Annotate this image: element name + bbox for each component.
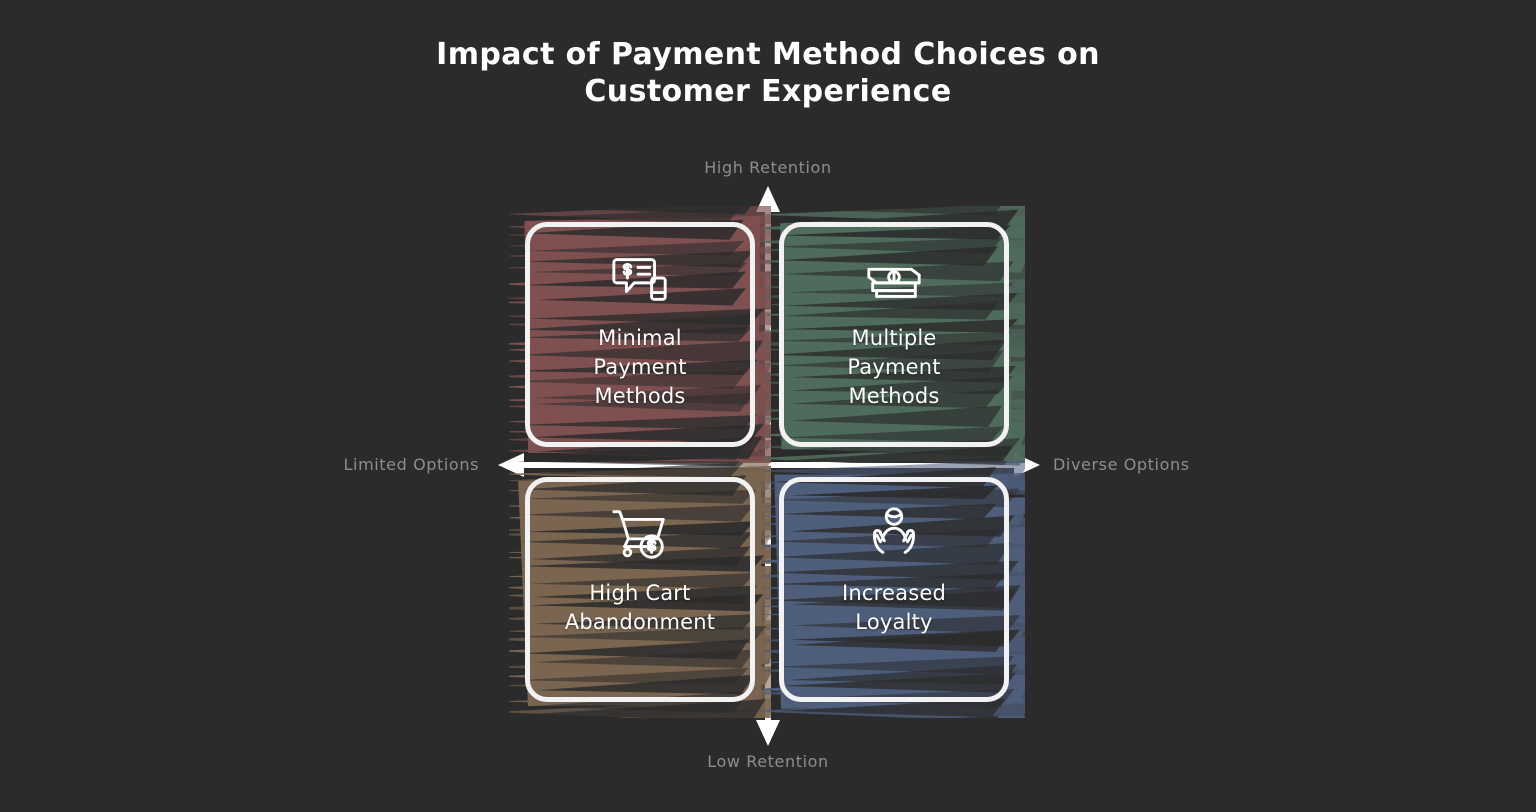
axis-arrow-down-icon [756, 720, 780, 746]
quadrant-card-multiple-payment-methods[interactable]: Multiple Payment Methods [779, 222, 1009, 447]
person-in-hands-care-icon [863, 503, 925, 565]
axis-label-top: High Retention [0, 158, 1536, 177]
quadrant-card-high-cart-abandonment[interactable]: High Cart Abandonment [525, 477, 755, 702]
quadrant-card-increased-loyalty[interactable]: Increased Loyalty [779, 477, 1009, 702]
shopping-cart-dollar-icon [609, 503, 671, 565]
card-label: Increased Loyalty [842, 579, 946, 637]
card-label: High Cart Abandonment [565, 579, 715, 637]
axis-label-left: Limited Options [344, 455, 479, 474]
card-label: Minimal Payment Methods [593, 324, 686, 411]
chat-bubble-dollar-mobile-icon [609, 248, 671, 310]
quadrant-card-minimal-payment-methods[interactable]: Minimal Payment Methods [525, 222, 755, 447]
page-title: Impact of Payment Method Choices on Cust… [0, 36, 1536, 110]
card-label: Multiple Payment Methods [847, 324, 940, 411]
quadrant-diagram: Impact of Payment Method Choices on Cust… [0, 0, 1536, 812]
cash-stack-dollar-icon [863, 248, 925, 310]
axis-label-right: Diverse Options [1053, 455, 1190, 474]
axis-label-bottom: Low Retention [0, 752, 1536, 771]
